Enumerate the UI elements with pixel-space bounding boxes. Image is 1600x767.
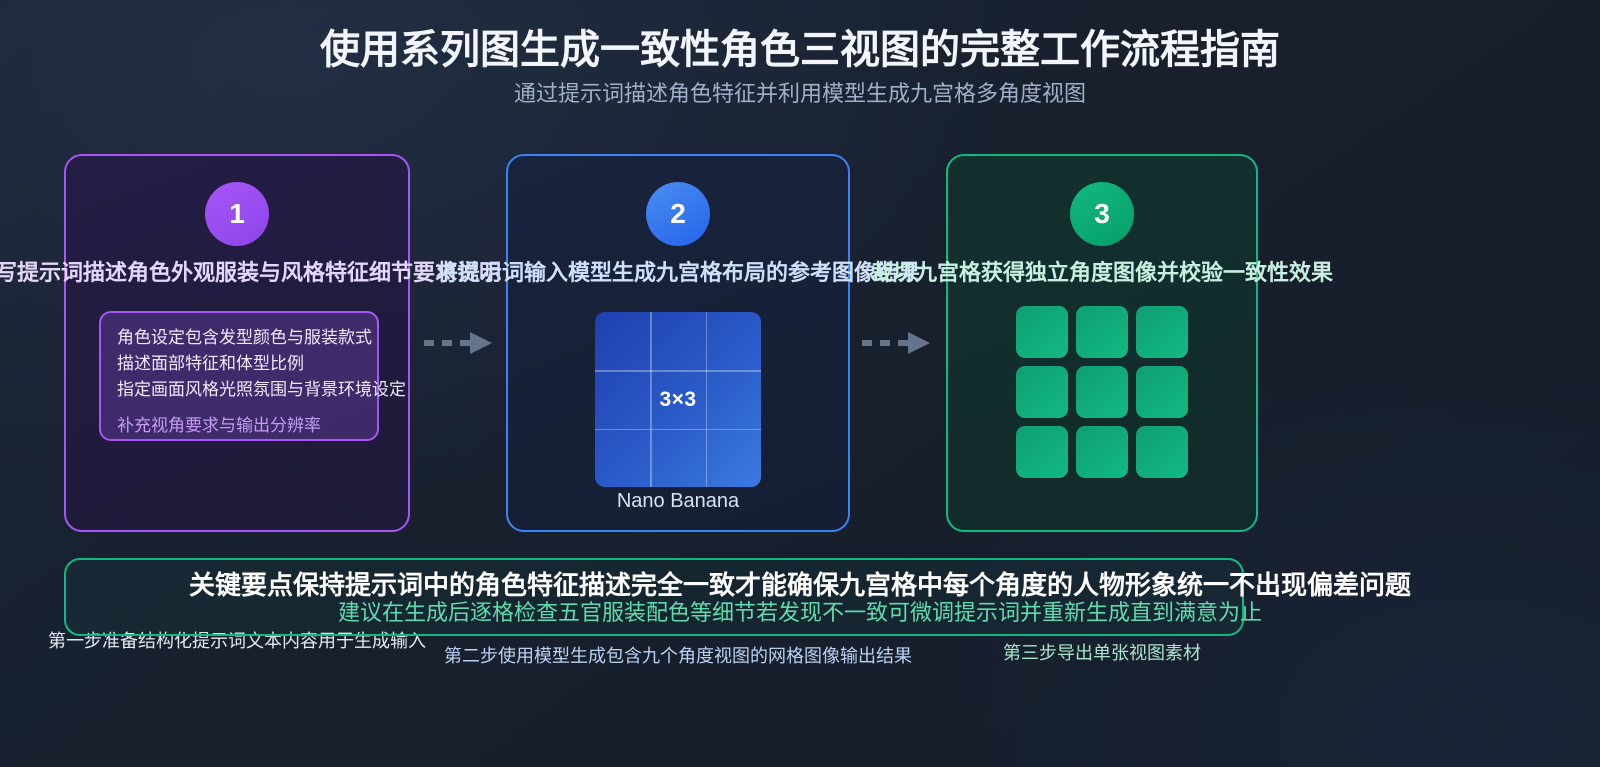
- prompt-panel: 角色设定包含发型颜色与服装款式 描述面部特征和体型比例 指定画面风格光照氛围与背…: [99, 311, 379, 441]
- flow-arrow-icon-2: [862, 332, 934, 354]
- step-number-badge-3: 3: [1070, 182, 1134, 246]
- output-tile[interactable]: [1076, 306, 1128, 358]
- banner-secondary-text: 建议在生成后逐格检查五官服装配色等细节若发现不一致可微调提示词并重新生成直到满意…: [338, 600, 1262, 626]
- output-tile-grid: [1016, 306, 1188, 478]
- output-tile[interactable]: [1076, 366, 1128, 418]
- output-tile[interactable]: [1136, 426, 1188, 478]
- step-title-1: 编写提示词描述角色外观服装与风格特征细节要求说明: [0, 260, 501, 286]
- prompt-line: 角色设定包含发型颜色与服装款式: [117, 325, 406, 351]
- step-caption-3: 第三步导出单张视图素材: [1003, 643, 1201, 665]
- flow-arrow-icon-1: [424, 332, 496, 354]
- output-tile[interactable]: [1016, 426, 1068, 478]
- step-card-1[interactable]: 1 编写提示词描述角色外观服装与风格特征细节要求说明 角色设定包含发型颜色与服装…: [64, 154, 410, 532]
- arrow-shaft: [862, 340, 912, 346]
- model-name-label: Nano Banana: [617, 490, 739, 513]
- grid-size-label: 3×3: [595, 312, 761, 487]
- banner-primary-text: 关键要点保持提示词中的角色特征描述完全一致才能确保九宫格中每个角度的人物形象统一…: [189, 570, 1411, 601]
- page-title: 使用系列图生成一致性角色三视图的完整工作流程指南: [320, 28, 1280, 72]
- page-subtitle: 通过提示词描述角色特征并利用模型生成九宫格多角度视图: [514, 82, 1086, 106]
- prompt-line-accent: 补充视角要求与输出分辨率: [117, 413, 406, 439]
- prompt-line: 指定画面风格光照氛围与背景环境设定: [117, 377, 406, 403]
- step-number-badge-2: 2: [646, 182, 710, 246]
- prompt-line: 描述面部特征和体型比例: [117, 351, 406, 377]
- output-tile[interactable]: [1136, 366, 1188, 418]
- output-tile[interactable]: [1016, 306, 1068, 358]
- infographic-canvas: 使用系列图生成一致性角色三视图的完整工作流程指南 通过提示词描述角色特征并利用模…: [0, 0, 1600, 767]
- step-number-badge-1: 1: [205, 182, 269, 246]
- step-title-2: 将提示词输入模型生成九宫格布局的参考图像结果: [436, 260, 920, 286]
- output-tile[interactable]: [1016, 366, 1068, 418]
- output-tile[interactable]: [1136, 306, 1188, 358]
- step-card-2[interactable]: 2 将提示词输入模型生成九宫格布局的参考图像结果 3×3 Nano Banana…: [506, 154, 850, 532]
- arrow-head: [908, 332, 930, 354]
- step-title-3: 裁切九宫格获得独立角度图像并校验一致性效果: [871, 260, 1333, 286]
- output-tile[interactable]: [1076, 426, 1128, 478]
- arrow-shaft: [424, 340, 474, 346]
- step-card-3[interactable]: 3 裁切九宫格获得独立角度图像并校验一致性效果 第三步导出单张视图素材: [946, 154, 1258, 532]
- prompt-panel-lines: 角色设定包含发型颜色与服装款式 描述面部特征和体型比例 指定画面风格光照氛围与背…: [117, 325, 406, 439]
- arrow-head: [470, 332, 492, 354]
- step-caption-2: 第二步使用模型生成包含九个角度视图的网格图像输出结果: [444, 646, 912, 668]
- grid-preview-image: 3×3: [595, 312, 761, 487]
